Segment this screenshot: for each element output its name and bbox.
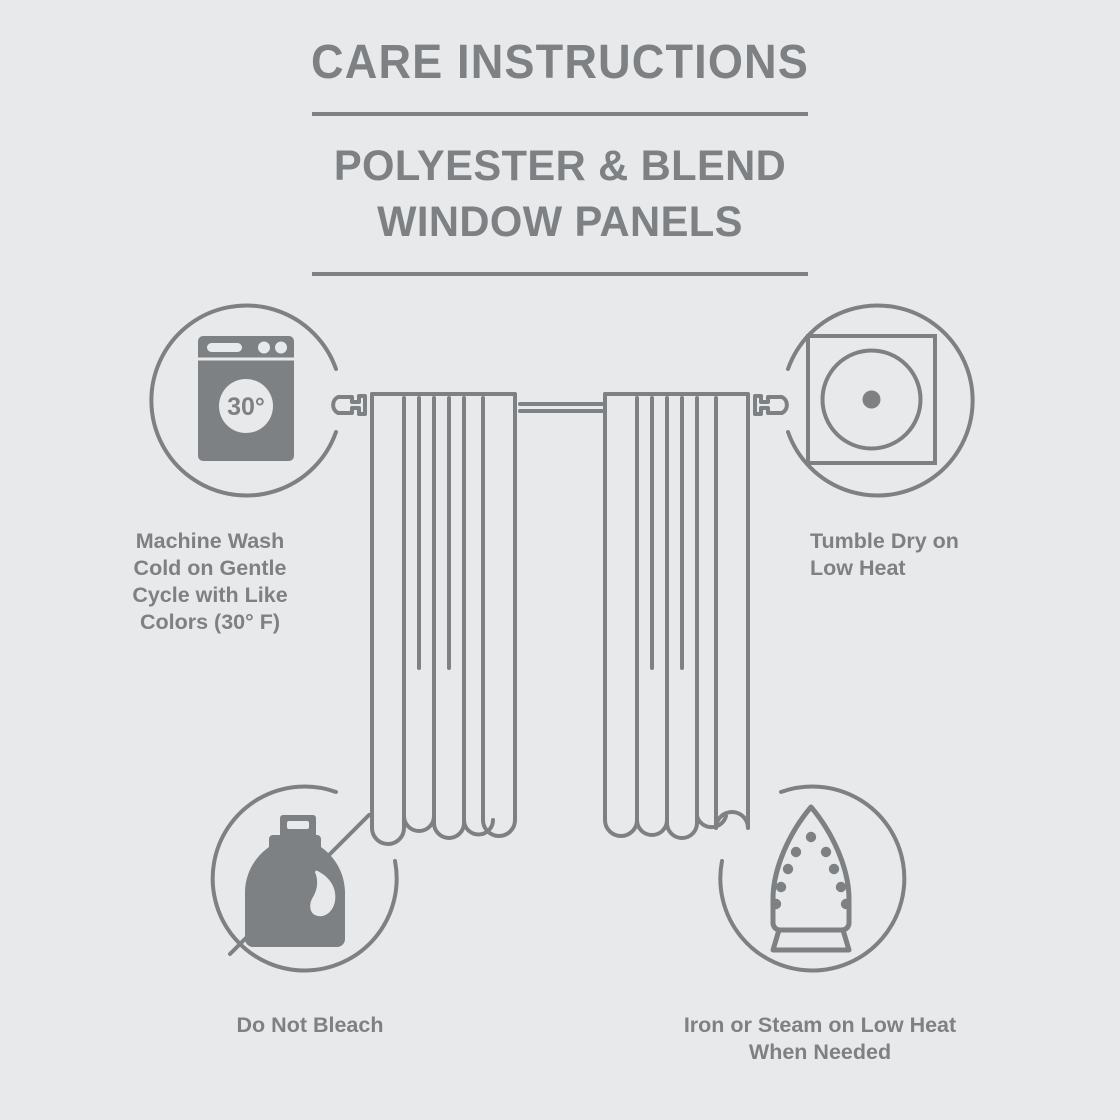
header: CARE INSTRUCTIONS POLYESTER & BLEND WIND… xyxy=(0,34,1120,276)
dry-icon-badge xyxy=(768,293,983,508)
wash-temperature-label: 30° xyxy=(227,393,265,421)
subtitle-divider xyxy=(312,272,808,276)
iron-ring xyxy=(720,787,904,971)
dry-heat-dot xyxy=(863,391,881,409)
wash-icon-badge: 30° xyxy=(140,293,350,508)
title-divider xyxy=(312,112,808,116)
iron-icon xyxy=(773,807,849,950)
care-instructions-infographic: CARE INSTRUCTIONS POLYESTER & BLEND WIND… xyxy=(0,0,1120,1120)
bleach-bottle-icon xyxy=(245,815,345,947)
iron-icon-badge xyxy=(709,779,914,989)
wash-caption: Machine Wash Cold on Gentle Cycle with L… xyxy=(60,528,360,636)
bleach-caption: Do Not Bleach xyxy=(160,1012,460,1039)
subtitle-line-2: WINDOW PANELS xyxy=(17,194,1103,250)
page-subtitle: POLYESTER & BLEND WINDOW PANELS xyxy=(17,138,1103,250)
bleach-icon-badge xyxy=(203,779,403,989)
iron-caption: Iron or Steam on Low Heat When Needed xyxy=(600,1012,1040,1066)
iron-steam-dots xyxy=(771,832,851,909)
dry-caption: Tumble Dry on Low Heat xyxy=(810,528,1060,582)
page-title: CARE INSTRUCTIONS xyxy=(34,34,1087,92)
subtitle-line-1: POLYESTER & BLEND xyxy=(17,138,1103,194)
